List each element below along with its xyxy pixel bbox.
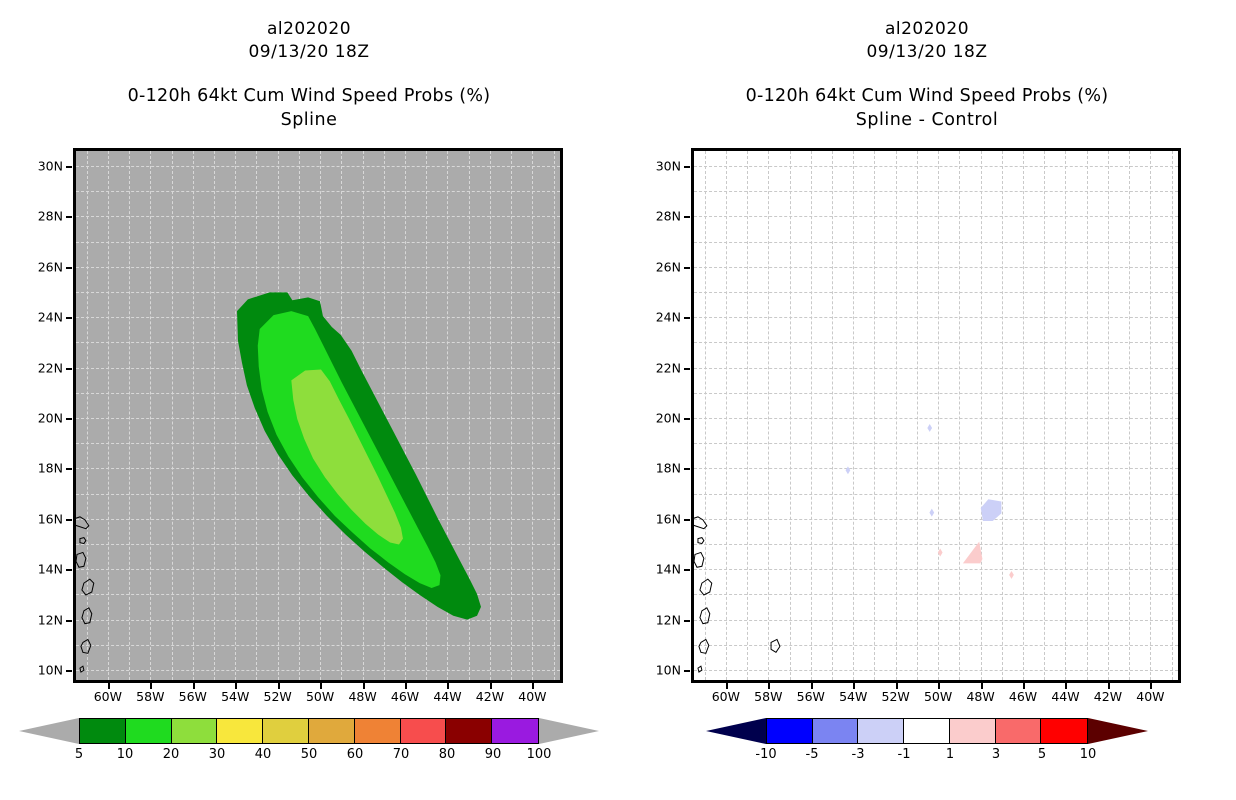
x-axis-label: 60W: [94, 689, 122, 704]
colorbar-segment[interactable]: [1041, 719, 1087, 743]
y-axis-tick: [684, 418, 690, 420]
x-axis-tick: [853, 683, 855, 689]
x-axis-label: 46W: [1009, 689, 1037, 704]
colorbar-tick-label: 80: [439, 747, 456, 762]
colorbar-segment[interactable]: [263, 719, 309, 743]
panel-spline: al202020 09/13/20 18Z 0-120h 64kt Cum Wi…: [0, 0, 618, 800]
y-axis-tick: [66, 166, 72, 168]
x-axis-label: 44W: [433, 689, 461, 704]
x-axis-label: 58W: [754, 689, 782, 704]
storm-id-left: al202020: [0, 18, 618, 40]
x-axis-label: 44W: [1051, 689, 1079, 704]
colorbar-tick-label: 70: [393, 747, 410, 762]
y-axis-label: 16N: [656, 511, 681, 526]
x-axis-label: 54W: [839, 689, 867, 704]
x-axis-tick: [1065, 683, 1067, 689]
x-axis-label: 58W: [136, 689, 164, 704]
colorbar-tick-label: 90: [485, 747, 502, 762]
y-axis-label: 24N: [38, 310, 63, 325]
colorbar-tick-label: 20: [163, 747, 180, 762]
colorbar-segment[interactable]: [767, 719, 813, 743]
x-axis-label: 52W: [264, 689, 292, 704]
colorbar-segment[interactable]: [813, 719, 859, 743]
panel-title-right: 0-120h 64kt Cum Wind Speed Probs (%): [618, 84, 1236, 108]
colorbar-tick-label: 10: [117, 747, 134, 762]
colorbar-segment[interactable]: [80, 719, 126, 743]
storm-id-right: al202020: [618, 18, 1236, 40]
coastline-islands-right: [694, 151, 1178, 680]
map-plot-right[interactable]: [691, 148, 1181, 683]
y-axis-label: 28N: [38, 209, 63, 224]
y-axis-tick: [66, 620, 72, 622]
y-axis-tick: [684, 317, 690, 319]
y-axis-tick: [684, 569, 690, 571]
y-axis-tick: [66, 418, 72, 420]
x-axis-label: 56W: [797, 689, 825, 704]
y-axis-label: 26N: [656, 259, 681, 274]
colorbar-right-overflow-cap: [1088, 718, 1148, 744]
colorbar-segment[interactable]: [904, 719, 950, 743]
colorbar-tick-label: 1: [946, 747, 954, 762]
colorbar-tick-label: 50: [301, 747, 318, 762]
x-axis-tick: [405, 683, 407, 689]
x-axis-label: 46W: [391, 689, 419, 704]
x-axis-tick: [768, 683, 770, 689]
x-axis-label: 48W: [348, 689, 376, 704]
map-plot-left[interactable]: [73, 148, 563, 683]
colorbar-tick-label: 10: [1080, 747, 1097, 762]
colorbar-tick-label: 5: [75, 747, 83, 762]
y-axis-label: 28N: [656, 209, 681, 224]
colorbar-left-overflow-cap: [539, 718, 599, 744]
x-axis-label: 42W: [1094, 689, 1122, 704]
y-axis-tick: [684, 620, 690, 622]
x-axis-tick: [811, 683, 813, 689]
y-axis-tick: [684, 670, 690, 672]
x-axis-label: 48W: [966, 689, 994, 704]
forecast-probability-figure: al202020 09/13/20 18Z 0-120h 64kt Cum Wi…: [0, 0, 1236, 800]
x-axis-tick: [896, 683, 898, 689]
panel-titles-left: al202020 09/13/20 18Z 0-120h 64kt Cum Wi…: [0, 0, 618, 132]
y-axis-label: 22N: [38, 360, 63, 375]
y-axis-label: 10N: [38, 662, 63, 677]
x-axis-tick: [938, 683, 940, 689]
colorbar-segment[interactable]: [858, 719, 904, 743]
x-axis-tick: [193, 683, 195, 689]
y-axis-label: 20N: [38, 411, 63, 426]
y-axis-label: 14N: [656, 562, 681, 577]
panel-subtitle-right: Spline - Control: [618, 108, 1236, 132]
x-axis-tick: [1023, 683, 1025, 689]
y-axis-tick: [684, 216, 690, 218]
panel-spline-minus-control: al202020 09/13/20 18Z 0-120h 64kt Cum Wi…: [618, 0, 1236, 800]
x-axis-tick: [235, 683, 237, 689]
y-axis-tick: [684, 166, 690, 168]
colorbar-tick-label: 60: [347, 747, 364, 762]
colorbar-left-underflow-cap: [19, 718, 79, 744]
x-axis-tick: [532, 683, 534, 689]
y-axis-label: 12N: [656, 612, 681, 627]
colorbar-tick-label: 40: [255, 747, 272, 762]
x-axis-tick: [108, 683, 110, 689]
x-axis-label: 40W: [518, 689, 546, 704]
colorbar-segment[interactable]: [355, 719, 401, 743]
y-axis-label: 20N: [656, 411, 681, 426]
colorbar-right-segments[interactable]: [766, 718, 1088, 744]
x-axis-tick: [726, 683, 728, 689]
coastline-islands-left: [76, 151, 560, 680]
forecast-datetime-left: 09/13/20 18Z: [0, 40, 618, 64]
colorbar-segment[interactable]: [950, 719, 996, 743]
y-axis-tick: [684, 519, 690, 521]
y-axis-label: 18N: [656, 461, 681, 476]
x-axis-tick: [150, 683, 152, 689]
y-axis-label: 18N: [38, 461, 63, 476]
y-axis-tick: [684, 468, 690, 470]
x-axis-label: 40W: [1136, 689, 1164, 704]
colorbar-right-underflow-cap: [706, 718, 766, 744]
forecast-datetime-right: 09/13/20 18Z: [618, 40, 1236, 64]
y-axis-tick: [66, 519, 72, 521]
x-axis-tick: [363, 683, 365, 689]
colorbar-segment[interactable]: [309, 719, 355, 743]
y-axis-label: 30N: [656, 159, 681, 174]
colorbar-segment[interactable]: [172, 719, 218, 743]
colorbar-segment[interactable]: [446, 719, 492, 743]
x-axis-tick: [278, 683, 280, 689]
y-axis-tick: [66, 468, 72, 470]
colorbar-segment[interactable]: [401, 719, 447, 743]
y-axis-tick: [66, 267, 72, 269]
colorbar-segment[interactable]: [126, 719, 172, 743]
x-axis-label: 54W: [221, 689, 249, 704]
colorbar-tick-label: 5: [1038, 747, 1046, 762]
y-axis-tick: [66, 216, 72, 218]
y-axis-tick: [684, 267, 690, 269]
y-axis-label: 22N: [656, 360, 681, 375]
x-axis-label: 60W: [712, 689, 740, 704]
x-axis-tick: [447, 683, 449, 689]
colorbar-tick-label: 100: [527, 747, 552, 762]
y-axis-label: 10N: [656, 662, 681, 677]
x-axis-label: 56W: [179, 689, 207, 704]
colorbar-tick-label: 30: [209, 747, 226, 762]
x-axis-tick: [320, 683, 322, 689]
y-axis-tick: [66, 569, 72, 571]
colorbar-left[interactable]: 5102030405060708090100: [0, 714, 618, 784]
colorbar-tick-label: -3: [852, 747, 865, 762]
y-axis-tick: [684, 368, 690, 370]
x-axis-tick: [490, 683, 492, 689]
x-axis-label: 42W: [476, 689, 504, 704]
y-axis-label: 16N: [38, 511, 63, 526]
x-axis-label: 52W: [882, 689, 910, 704]
colorbar-segment[interactable]: [492, 719, 538, 743]
y-axis-label: 26N: [38, 259, 63, 274]
colorbar-tick-label: 3: [992, 747, 1000, 762]
colorbar-segment[interactable]: [996, 719, 1042, 743]
x-axis-label: 50W: [306, 689, 334, 704]
x-axis-label: 50W: [924, 689, 952, 704]
y-axis-tick: [66, 317, 72, 319]
colorbar-segment[interactable]: [217, 719, 263, 743]
colorbar-tick-label: -1: [898, 747, 911, 762]
y-axis-tick: [66, 368, 72, 370]
panel-titles-right: al202020 09/13/20 18Z 0-120h 64kt Cum Wi…: [618, 0, 1236, 132]
x-axis-tick: [981, 683, 983, 689]
y-axis-label: 14N: [38, 562, 63, 577]
colorbar-left-segments[interactable]: [79, 718, 539, 744]
y-axis-label: 24N: [656, 310, 681, 325]
colorbar-right[interactable]: -10-5-3-113510: [618, 714, 1236, 784]
y-axis-label: 12N: [38, 612, 63, 627]
x-axis-tick: [1150, 683, 1152, 689]
y-axis-tick: [66, 670, 72, 672]
x-axis-tick: [1108, 683, 1110, 689]
y-axis-label: 30N: [38, 159, 63, 174]
colorbar-tick-label: -5: [806, 747, 819, 762]
colorbar-tick-label: -10: [755, 747, 776, 762]
panel-subtitle-left: Spline: [0, 108, 618, 132]
panel-title-left: 0-120h 64kt Cum Wind Speed Probs (%): [0, 84, 618, 108]
